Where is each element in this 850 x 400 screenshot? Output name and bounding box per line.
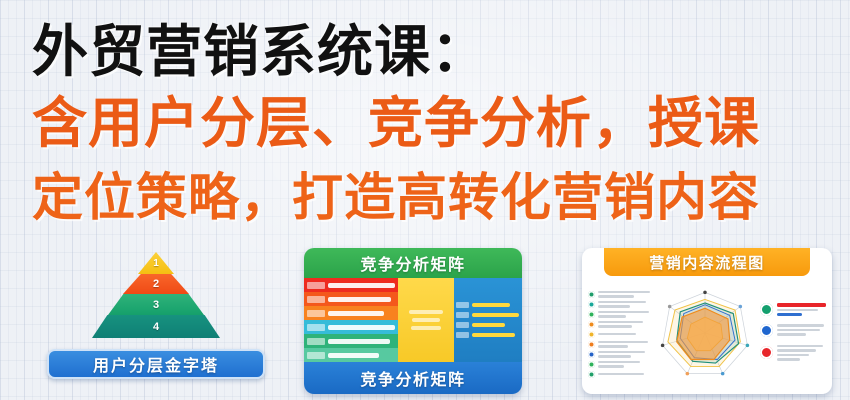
matrix-row bbox=[304, 306, 398, 320]
matrix-right-bar bbox=[472, 303, 511, 307]
list-item-lines bbox=[598, 333, 650, 336]
list-item bbox=[588, 341, 650, 348]
matrix-row bbox=[304, 292, 398, 306]
list-item bbox=[588, 311, 650, 318]
list-item bbox=[760, 324, 826, 337]
matrix-center-panel bbox=[398, 278, 454, 362]
status-dot-icon bbox=[588, 361, 595, 368]
matrix-right-bar bbox=[472, 323, 505, 327]
status-dot-icon bbox=[588, 351, 595, 358]
list-item-lines bbox=[598, 311, 650, 318]
status-dot-icon bbox=[588, 311, 595, 318]
status-dot-icon bbox=[588, 321, 595, 328]
pyramid-level-2: 2 bbox=[123, 274, 189, 294]
radar-card-body bbox=[588, 278, 826, 388]
list-item-lines bbox=[598, 373, 650, 376]
list-item-lines bbox=[777, 303, 826, 316]
matrix-right-tag bbox=[456, 322, 469, 328]
list-item bbox=[588, 301, 650, 308]
list-item-lines bbox=[598, 301, 650, 308]
matrix-right-row bbox=[456, 322, 520, 328]
matrix-row-tag bbox=[307, 338, 325, 345]
headline-line-2: 含用户分层、竞争分析，授课 bbox=[32, 96, 760, 151]
pyramid-badge-button[interactable]: 用户分层金字塔 bbox=[47, 349, 265, 379]
pyramid-level-4-label: 4 bbox=[153, 321, 159, 333]
matrix-row bbox=[304, 320, 398, 334]
matrix-center-line bbox=[409, 310, 443, 314]
matrix-row-bar bbox=[328, 311, 384, 316]
matrix-row-bar bbox=[328, 283, 395, 288]
list-item-lines bbox=[598, 341, 650, 348]
status-dot-icon bbox=[588, 301, 595, 308]
matrix-right-row bbox=[456, 312, 520, 318]
matrix-right-bar bbox=[472, 333, 516, 337]
headline-line-3: 定位策略，打造高转化营销内容 bbox=[32, 172, 760, 223]
matrix-left-column bbox=[304, 278, 398, 362]
target-circle-icon bbox=[760, 346, 773, 359]
user-tier-pyramid-panel: 1 2 3 4 用户分层金字塔 bbox=[38, 246, 274, 396]
pyramid-diagram: 1 2 3 4 bbox=[91, 252, 221, 340]
matrix-row-bar bbox=[328, 339, 390, 344]
matrix-center-line bbox=[411, 326, 441, 330]
pyramid-level-1-label: 1 bbox=[153, 258, 159, 269]
list-item-lines bbox=[598, 291, 650, 298]
matrix-center-line bbox=[412, 318, 440, 322]
marketing-flow-card[interactable]: 营销内容流程图 bbox=[582, 248, 832, 394]
list-item-lines bbox=[598, 361, 650, 368]
list-item bbox=[588, 321, 650, 328]
matrix-row bbox=[304, 334, 398, 348]
matrix-row-bar bbox=[328, 325, 395, 330]
list-item-lines bbox=[598, 351, 650, 358]
list-item bbox=[760, 303, 826, 316]
pyramid-level-1: 1 bbox=[138, 252, 174, 274]
matrix-card-footer: 竞争分析矩阵 bbox=[304, 362, 522, 394]
panel-row: 1 2 3 4 用户分层金字塔 竞争分析矩阵 bbox=[0, 242, 850, 400]
status-dot-icon bbox=[588, 331, 595, 338]
matrix-row-tag bbox=[307, 324, 325, 331]
list-item bbox=[588, 351, 650, 358]
matrix-row bbox=[304, 348, 398, 362]
pyramid-level-4: 4 bbox=[92, 315, 220, 338]
matrix-card-body bbox=[304, 278, 522, 362]
list-item bbox=[588, 331, 650, 338]
radar-left-list bbox=[588, 278, 650, 388]
radar-right-list bbox=[760, 278, 826, 388]
radar-card-header: 营销内容流程图 bbox=[604, 248, 810, 276]
radar-chart-svg bbox=[652, 278, 758, 388]
matrix-right-tag bbox=[456, 302, 469, 308]
matrix-row-tag bbox=[307, 282, 325, 289]
matrix-row-bar bbox=[328, 297, 391, 302]
matrix-row-bar bbox=[328, 353, 379, 358]
headline-line-1: 外贸营销系统课： bbox=[32, 24, 488, 80]
matrix-row-tag bbox=[307, 296, 325, 303]
list-item bbox=[760, 345, 826, 361]
target-circle-icon bbox=[760, 324, 773, 337]
list-item-lines bbox=[598, 321, 650, 328]
status-dot-icon bbox=[588, 291, 595, 298]
pyramid-level-3: 3 bbox=[108, 294, 204, 315]
radar-chart bbox=[652, 278, 758, 388]
matrix-right-row bbox=[456, 332, 520, 338]
list-item-lines bbox=[777, 324, 826, 336]
matrix-right-tag bbox=[456, 312, 469, 318]
pyramid-level-3-label: 3 bbox=[153, 299, 159, 311]
matrix-row-tag bbox=[307, 310, 325, 317]
competitor-matrix-card[interactable]: 竞争分析矩阵 bbox=[304, 248, 522, 394]
matrix-right-tag bbox=[456, 332, 469, 338]
status-dot-icon bbox=[588, 341, 595, 348]
status-dot-icon bbox=[588, 371, 595, 378]
matrix-row bbox=[304, 278, 398, 292]
matrix-right-bar bbox=[472, 313, 520, 317]
list-item bbox=[588, 361, 650, 368]
list-item bbox=[588, 371, 650, 378]
matrix-right-row bbox=[456, 302, 520, 308]
list-item bbox=[588, 291, 650, 298]
matrix-center-lines bbox=[409, 310, 443, 330]
pyramid-level-2-label: 2 bbox=[153, 278, 159, 290]
target-circle-icon bbox=[760, 303, 773, 316]
matrix-right-panel bbox=[454, 278, 522, 362]
matrix-card-header: 竞争分析矩阵 bbox=[304, 248, 522, 278]
list-item-lines bbox=[777, 345, 826, 361]
matrix-row-tag bbox=[307, 352, 325, 359]
poster-root: 外贸营销系统课： 含用户分层、竞争分析，授课 定位策略，打造高转化营销内容 1 … bbox=[0, 0, 850, 400]
